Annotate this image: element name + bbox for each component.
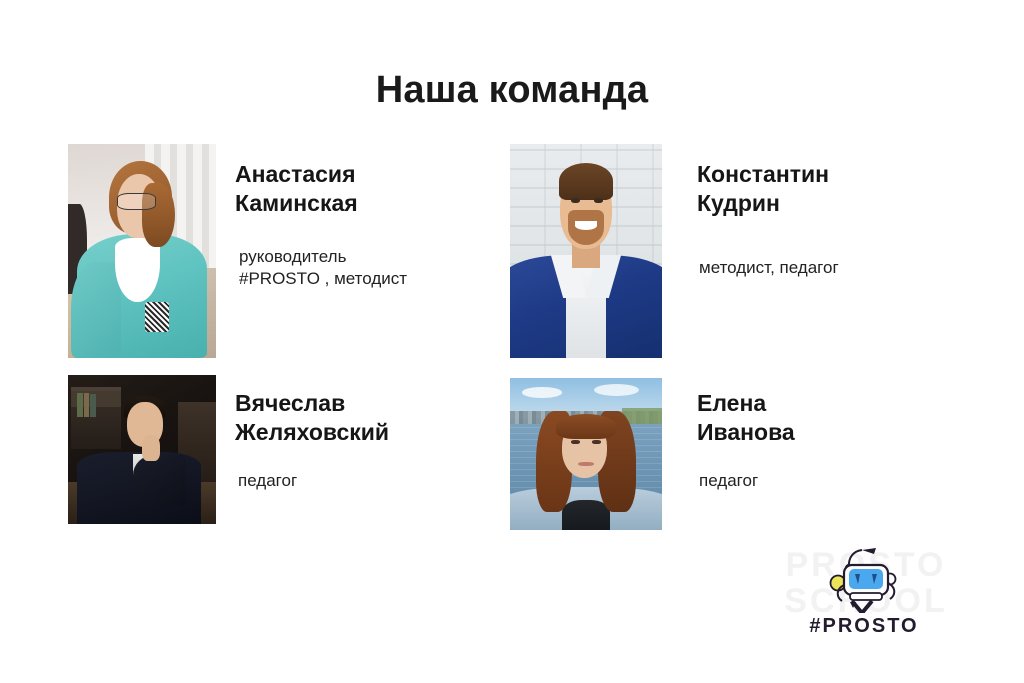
team-member-photo: [510, 378, 662, 530]
photo-woman-river: [510, 378, 662, 530]
slide-canvas: Наша команда Анастасия Каминская руковод…: [0, 0, 1024, 683]
team-member-name: Елена Иванова: [697, 389, 997, 448]
robot-mascot-icon: [800, 545, 928, 613]
team-member-text: Елена Иванова педагог: [697, 389, 997, 492]
team-member-role: педагог: [699, 470, 997, 492]
logo-text: #PROSTO: [800, 615, 928, 638]
prosto-logo: #PROSTO: [800, 545, 928, 645]
